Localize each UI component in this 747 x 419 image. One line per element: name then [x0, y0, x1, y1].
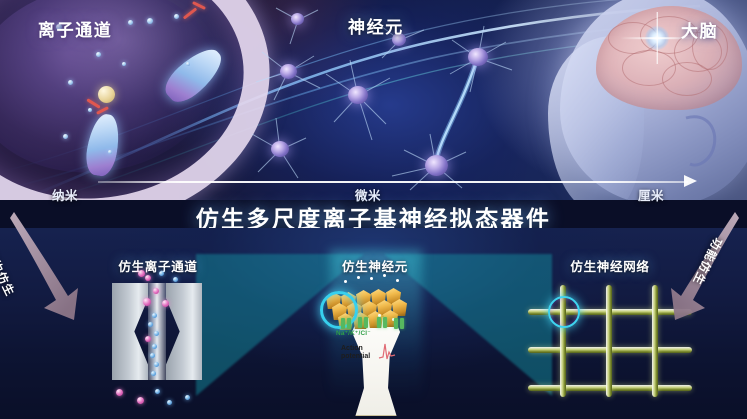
- action-potential-waveform: [378, 341, 396, 361]
- scale-bar-line: [98, 181, 688, 183]
- label-brain: 大脑: [681, 17, 718, 42]
- neuron-highlight-ring: [320, 291, 358, 329]
- ion-species-label: Na⁺/K⁺/Cl⁻: [336, 329, 371, 337]
- device-title-bionic-neuron: 仿生神经元: [321, 256, 429, 275]
- action-potential-label: Action potential: [341, 345, 375, 362]
- network-junction-highlight-ring: [548, 296, 580, 328]
- structural-biomimicry-arrow: [8, 208, 94, 326]
- biological-scale-panel: 离子通道 神经元 大脑: [0, 0, 747, 200]
- ear-shape: [672, 108, 732, 178]
- device-title-bionic-neural-network: 仿生神经网络: [552, 256, 668, 275]
- label-neuron: 神经元: [348, 13, 404, 38]
- ligand-molecule: [98, 86, 115, 103]
- figure-canvas: 离子通道 神经元 大脑 纳米 微米 厘米 仿生多尺度离子基神经拟态器件 仿生离子…: [0, 0, 747, 419]
- label-ion-channel: 离子通道: [38, 16, 112, 41]
- scale-bar-arrowhead: [684, 175, 697, 187]
- brain-activation-spark: [645, 26, 669, 50]
- device-title-bionic-ion-channel: 仿生离子通道: [104, 256, 212, 275]
